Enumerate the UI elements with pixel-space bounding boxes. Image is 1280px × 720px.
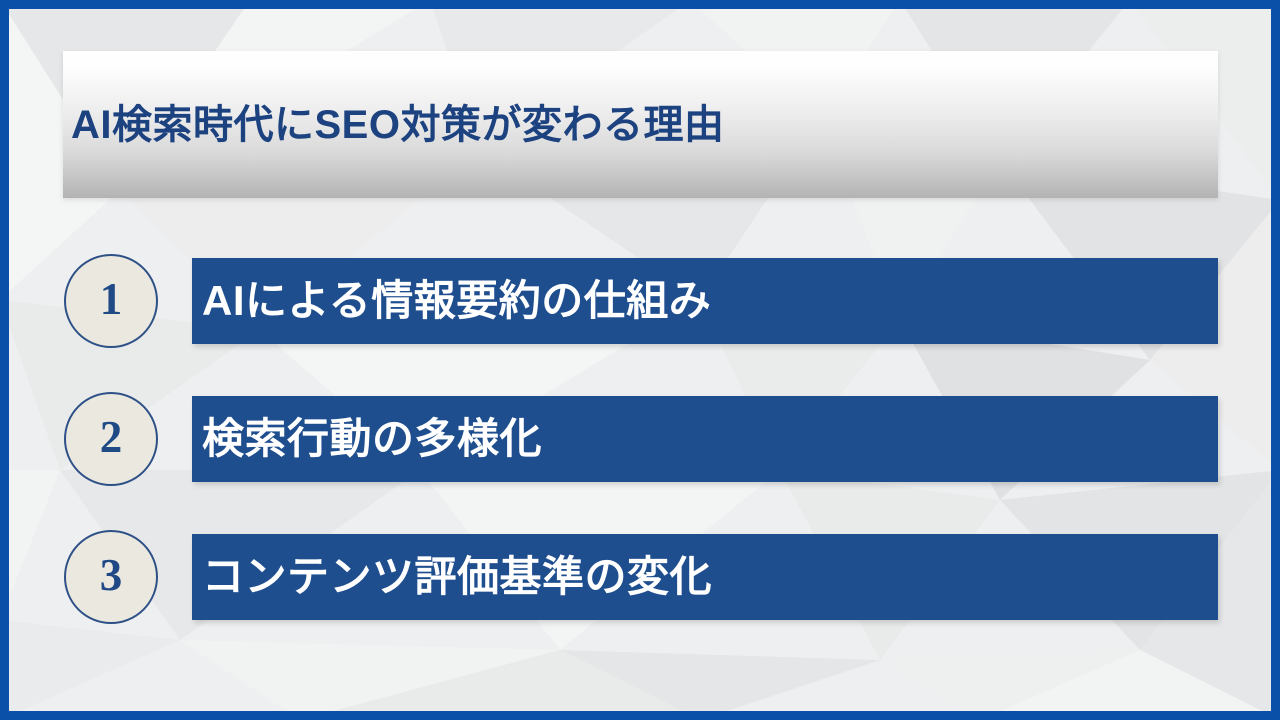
frame-border-bottom — [0, 711, 1280, 720]
list-item[interactable]: 1 AIによる情報要約の仕組み — [64, 253, 1218, 348]
list-item-label: AIによる情報要約の仕組み — [192, 280, 711, 322]
step-number: 2 — [100, 415, 123, 460]
list-item-bar[interactable]: 検索行動の多様化 — [192, 396, 1218, 482]
step-number-badge: 1 — [64, 254, 158, 348]
list-item-label: コンテンツ評価基準の変化 — [192, 556, 712, 598]
step-number-badge: 2 — [64, 392, 158, 486]
list-item-bar[interactable]: コンテンツ評価基準の変化 — [192, 534, 1218, 620]
frame-border-right — [1271, 0, 1280, 720]
list-item[interactable]: 2 検索行動の多様化 — [64, 391, 1218, 486]
step-number-badge: 3 — [64, 530, 158, 624]
step-number: 1 — [100, 277, 123, 322]
numbered-list: 1 AIによる情報要約の仕組み 2 検索行動の多様化 3 コンテンツ評価基準の変… — [0, 0, 1280, 720]
frame-border-top — [0, 0, 1280, 9]
list-item-bar[interactable]: AIによる情報要約の仕組み — [192, 258, 1218, 344]
step-number: 3 — [100, 553, 123, 598]
slide-canvas: AI検索時代にSEO対策が変わる理由 1 AIによる情報要約の仕組み 2 検索行… — [0, 0, 1280, 720]
frame-border-left — [0, 0, 9, 720]
list-item[interactable]: 3 コンテンツ評価基準の変化 — [64, 529, 1218, 624]
list-item-label: 検索行動の多様化 — [192, 418, 542, 460]
